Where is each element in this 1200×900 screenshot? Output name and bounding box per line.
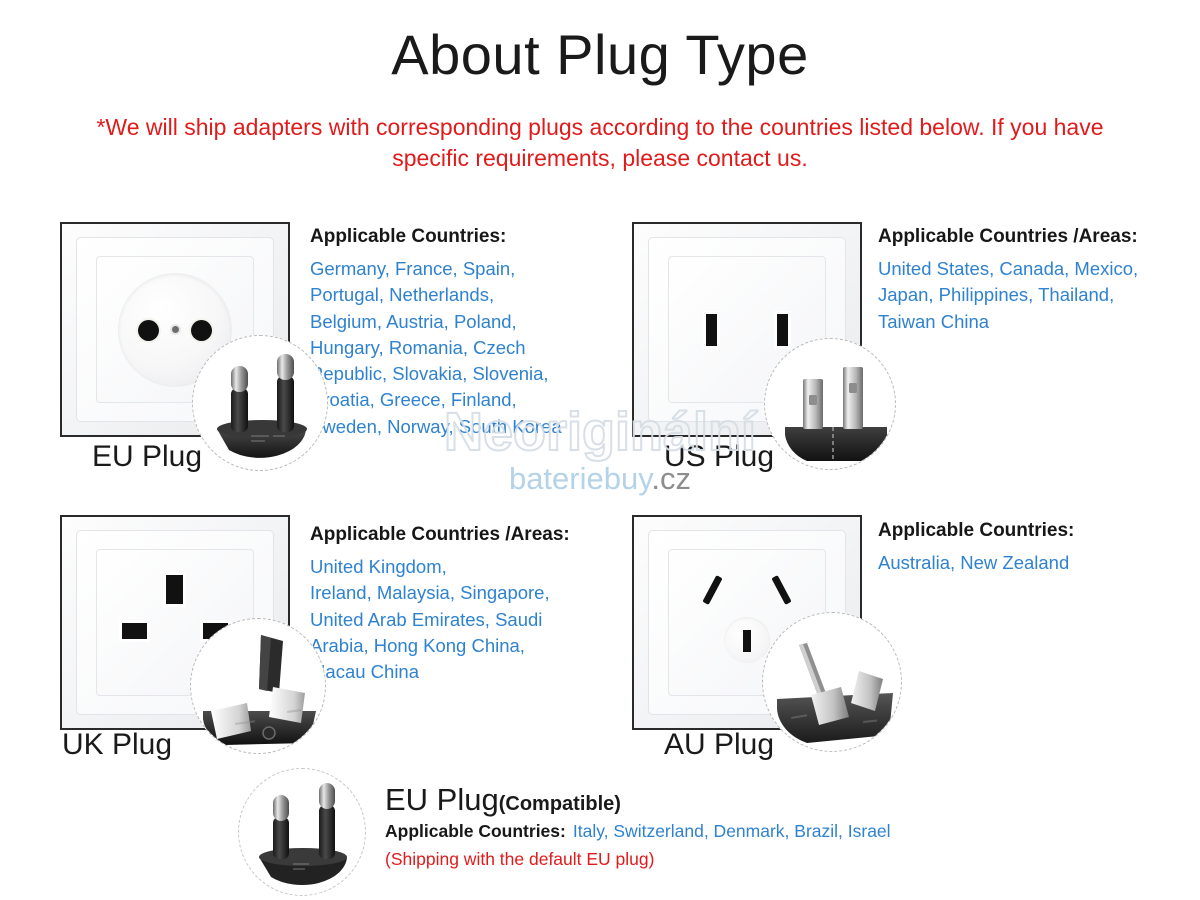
uk-plug-closeup-icon bbox=[190, 618, 326, 754]
compatible-plug-title-suffix: (Compatible) bbox=[499, 793, 621, 815]
us-plug-closeup-icon bbox=[764, 338, 896, 470]
shipping-note: *We will ship adapters with correspondin… bbox=[60, 112, 1140, 174]
country-list-us: Applicable Countries /Areas: United Stat… bbox=[878, 226, 1178, 335]
country-list-eu: Applicable Countries: Germany, France, S… bbox=[310, 226, 590, 440]
eu-compatible-plug-closeup-icon bbox=[238, 768, 366, 896]
compatible-shipping-note: (Shipping with the default EU plug) bbox=[385, 849, 654, 870]
compatible-plug-title-main: EU Plug bbox=[385, 782, 499, 817]
eu-pin-hole-left bbox=[138, 320, 159, 341]
plug-label-us: US Plug bbox=[664, 440, 774, 474]
plug-label-au: AU Plug bbox=[664, 728, 774, 762]
country-list-au: Applicable Countries: Australia, New Zea… bbox=[878, 520, 1178, 576]
eu-center-screw bbox=[172, 326, 179, 333]
country-list-heading-uk: Applicable Countries /Areas: bbox=[310, 524, 610, 546]
uk-earth-slot bbox=[166, 575, 183, 604]
compatible-plug-title: EU Plug(Compatible) bbox=[385, 782, 621, 818]
us-slot-left bbox=[706, 314, 717, 346]
page-title: About Plug Type bbox=[0, 24, 1200, 86]
us-slot-right bbox=[777, 314, 788, 346]
plug-label-uk: UK Plug bbox=[62, 728, 172, 762]
compatible-countries-line: Applicable Countries:Italy, Switzerland,… bbox=[385, 821, 891, 842]
eu-pin-hole-right bbox=[191, 320, 212, 341]
au-plug-closeup-icon bbox=[762, 612, 902, 752]
uk-live-slot bbox=[122, 623, 147, 639]
country-list-body-eu: Germany, France, Spain, Portugal, Nether… bbox=[310, 256, 590, 440]
au-earth-recess bbox=[724, 617, 770, 663]
country-list-body-uk: United Kingdom, Ireland, Malaysia, Singa… bbox=[310, 554, 610, 685]
compatible-countries-heading: Applicable Countries: bbox=[385, 821, 566, 841]
country-list-body-us: United States, Canada, Mexico, Japan, Ph… bbox=[878, 256, 1178, 335]
eu-plug-closeup-icon bbox=[192, 335, 328, 471]
country-list-heading-au: Applicable Countries: bbox=[878, 520, 1178, 542]
country-list-heading-eu: Applicable Countries: bbox=[310, 226, 590, 248]
plug-label-eu: EU Plug bbox=[92, 440, 202, 474]
plug-type-infographic: About Plug Type *We will ship adapters w… bbox=[0, 0, 1200, 900]
country-list-heading-us: Applicable Countries /Areas: bbox=[878, 226, 1178, 248]
au-earth-slot bbox=[743, 630, 751, 652]
compatible-countries-body: Italy, Switzerland, Denmark, Brazil, Isr… bbox=[566, 821, 891, 841]
au-neutral-slot bbox=[771, 575, 791, 605]
country-list-body-au: Australia, New Zealand bbox=[878, 550, 1178, 576]
au-active-slot bbox=[702, 575, 722, 605]
country-list-uk: Applicable Countries /Areas: United King… bbox=[310, 524, 610, 685]
watermark-brand-name: bateriebuy bbox=[509, 461, 651, 496]
